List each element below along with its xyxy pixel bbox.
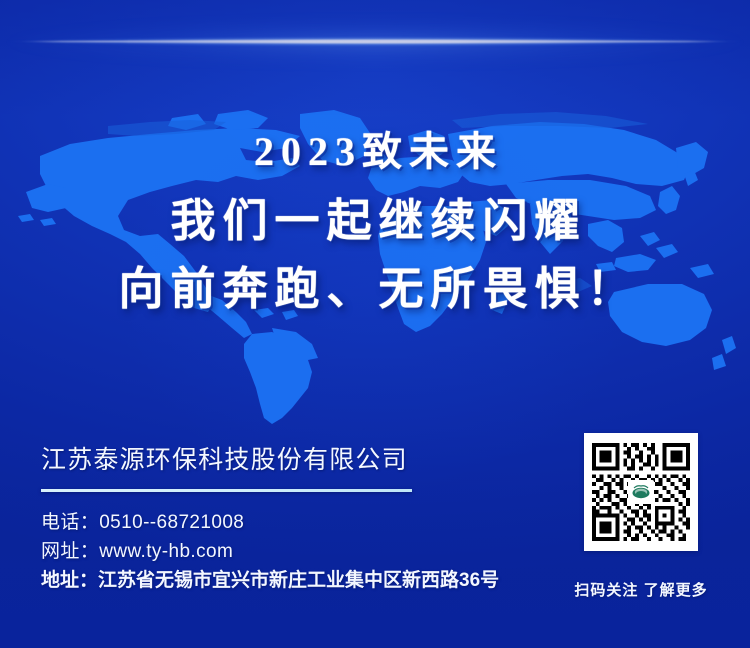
headline-line-2: 我们一起继续闪耀	[0, 194, 750, 248]
qr-caption: 扫码关注 了解更多	[566, 579, 716, 600]
qr-code-icon[interactable]	[584, 433, 698, 551]
poster-canvas: 2023致未来 我们一起继续闪耀 向前奔跑、无所畏惧！ 江苏泰源环保科技股份有限…	[0, 0, 750, 648]
contact-phone: 电话：0510--68721008	[41, 508, 541, 537]
divider-line	[41, 489, 412, 492]
company-info-block: 江苏泰源环保科技股份有限公司 电话：0510--68721008 网址：www.…	[41, 444, 541, 595]
qr-block: 扫码关注 了解更多	[566, 433, 716, 600]
qr-center-logo-icon	[628, 480, 654, 504]
contact-list: 电话：0510--68721008 网址：www.ty-hb.com 地址：江苏…	[41, 508, 541, 595]
contact-website[interactable]: 网址：www.ty-hb.com	[41, 537, 541, 566]
headline-line-1: 2023致未来	[0, 128, 750, 176]
company-name: 江苏泰源环保科技股份有限公司	[41, 444, 541, 476]
headline-block: 2023致未来 我们一起继续闪耀 向前奔跑、无所畏惧！	[0, 128, 750, 316]
contact-address: 地址：江苏省无锡市宜兴市新庄工业集中区新西路36号	[41, 566, 541, 595]
headline-line-3: 向前奔跑、无所畏惧！	[0, 262, 750, 316]
